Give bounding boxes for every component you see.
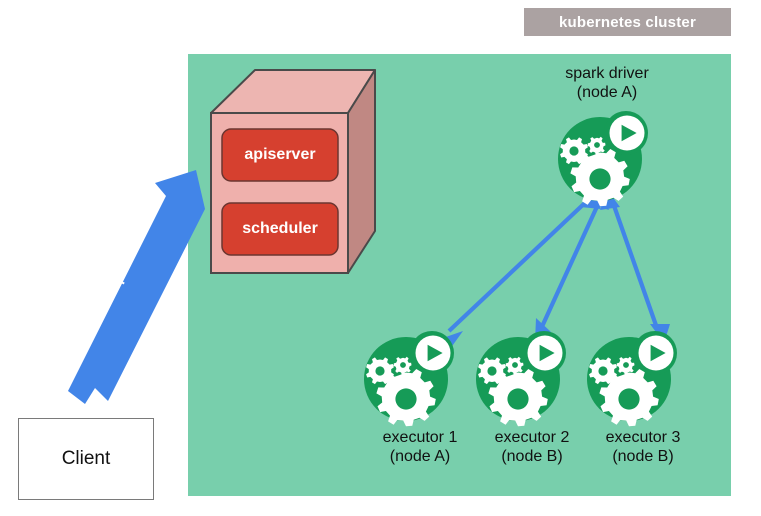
spark-driver-label: spark driver (node A) [527, 64, 687, 102]
spark-submit-arrow [68, 170, 205, 404]
arrow-driver-executor-3 [600, 192, 670, 343]
spark-driver-node[interactable] [558, 111, 648, 206]
apiserver-label: apiserver [222, 129, 338, 181]
diagram-canvas: kubernetes cluster [0, 0, 761, 516]
executor-node-3[interactable] [587, 331, 677, 426]
client-label: Client [62, 448, 111, 470]
arrow-driver-executor-1 [440, 192, 601, 349]
executor-3-label: executor 3 (node B) [563, 428, 723, 466]
client-box[interactable]: Client [18, 418, 154, 500]
executor-node-1[interactable] [364, 331, 454, 426]
scheduler-label: scheduler [222, 203, 338, 255]
executor-node-2[interactable] [476, 331, 566, 426]
